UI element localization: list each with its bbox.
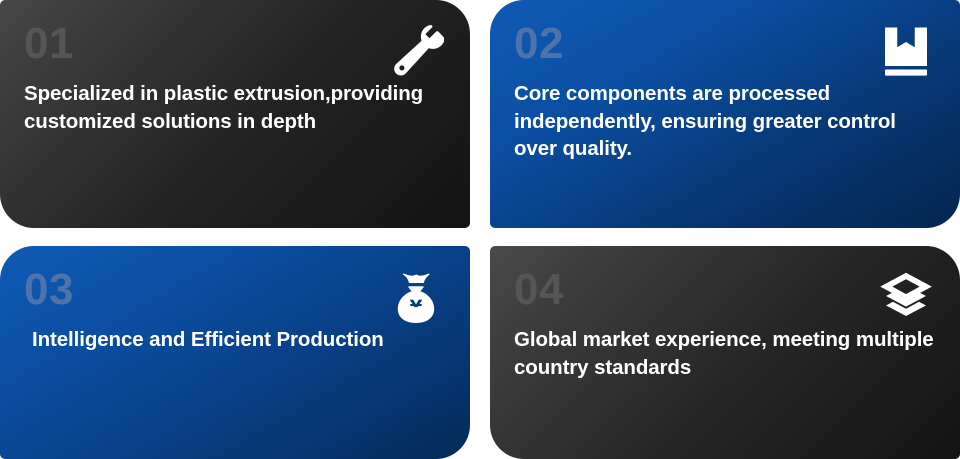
card-number-01: 01 [24, 22, 444, 66]
card-number-03: 03 [24, 268, 444, 312]
card-text-02: Core components are processed independen… [514, 80, 934, 163]
card-text-03: Intelligence and Efficient Production [32, 326, 444, 354]
card-number-02: 02 [514, 22, 934, 66]
feature-card-grid: 01 Specialized in plastic extrusion,prov… [0, 0, 960, 459]
feature-card-02[interactable]: 02 Core components are processed indepen… [490, 0, 960, 228]
card-text-01: Specialized in plastic extrusion,providi… [24, 80, 444, 135]
feature-card-01[interactable]: 01 Specialized in plastic extrusion,prov… [0, 0, 470, 228]
card-text-04: Global market experience, meeting multip… [514, 326, 934, 381]
feature-card-03[interactable]: 03 Intelligence and Efficient Production [0, 246, 470, 459]
feature-card-04[interactable]: 04 Global market experience, meeting mul… [490, 246, 960, 459]
card-number-04: 04 [514, 268, 934, 312]
